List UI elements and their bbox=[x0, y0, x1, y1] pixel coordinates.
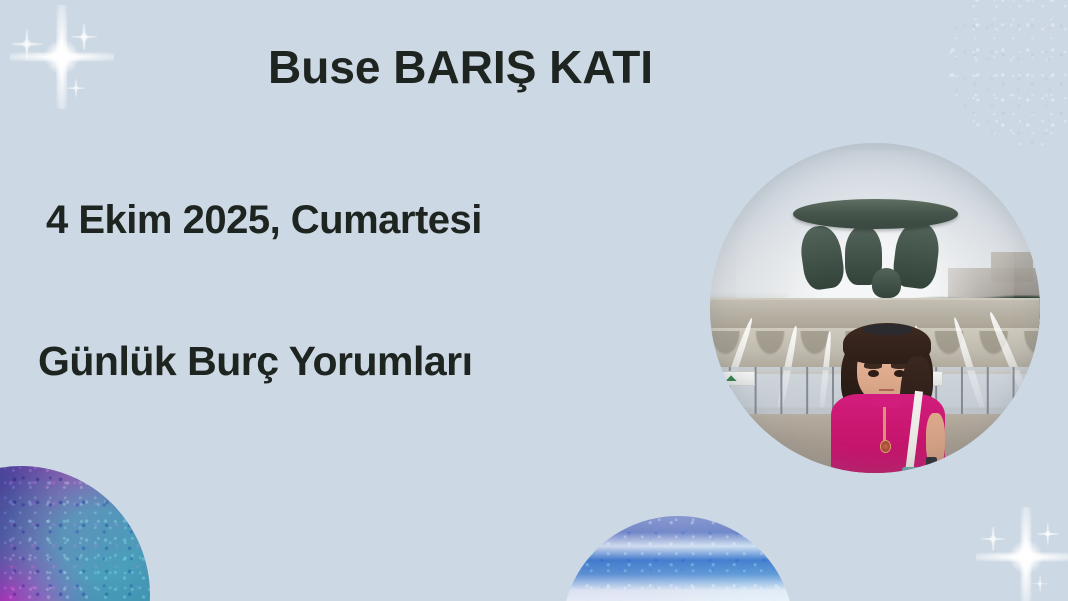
tagline: Günlük Burç Yorumları bbox=[38, 338, 473, 385]
sparkle-icon bbox=[67, 79, 85, 97]
sparkle-icon bbox=[12, 29, 42, 59]
sparkle-cluster-top-left bbox=[0, 0, 130, 120]
photo-fence-sign-mark bbox=[726, 375, 737, 381]
photo-triton-figure bbox=[872, 268, 902, 298]
blue-planet-texture bbox=[562, 516, 794, 601]
photo-person-sunglasses bbox=[864, 324, 912, 335]
sparkle-icon bbox=[981, 527, 1005, 551]
slide-canvas: Buse BARIŞ KATI 4 Ekim 2025, Cumartesi G… bbox=[0, 0, 1068, 601]
galaxy-planet-texture bbox=[0, 466, 150, 601]
sparkle-icon bbox=[1032, 576, 1048, 592]
sparkle-icon bbox=[1037, 523, 1059, 545]
sparkle-icon bbox=[976, 507, 1068, 601]
pink-planet-texture bbox=[948, 0, 1068, 146]
sparkle-cluster-bottom-right bbox=[948, 492, 1068, 601]
photo-fountain-bowl bbox=[793, 199, 958, 229]
profile-photo bbox=[710, 143, 1040, 473]
blue-banded-planet bbox=[562, 516, 794, 601]
photo-person-bag bbox=[902, 467, 935, 473]
date-line: 4 Ekim 2025, Cumartesi bbox=[46, 198, 482, 243]
pink-watercolor-planet bbox=[948, 0, 1068, 146]
galaxy-watercolor-planet bbox=[0, 466, 150, 601]
photo-person bbox=[829, 321, 948, 473]
photo-person-watch bbox=[926, 457, 937, 467]
page-title: Buse BARIŞ KATI bbox=[268, 40, 653, 94]
photo-person-necklace bbox=[883, 407, 885, 442]
photo-fence-sign bbox=[720, 371, 755, 386]
sparkle-icon bbox=[71, 24, 97, 50]
